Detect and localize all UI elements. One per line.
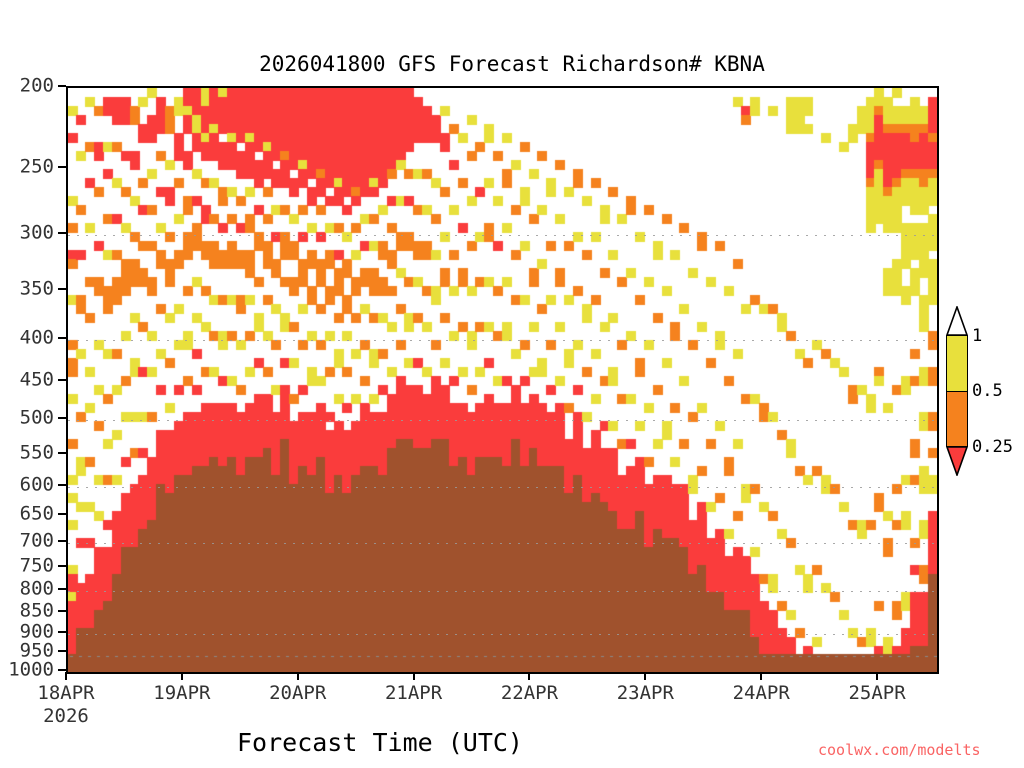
page-title: 2026041800 GFS Forecast Richardson# KBNA <box>0 52 1024 76</box>
y-tick-label-400: 400 <box>20 328 54 347</box>
colorbar-label-1: 1 <box>972 326 982 346</box>
y-tick-mark-300 <box>58 232 66 234</box>
y-tick-mark-450 <box>58 379 66 381</box>
x-tick-mark-23APR <box>644 672 646 680</box>
plot-area <box>66 86 939 674</box>
colorbar-label-0.5: 0.5 <box>972 381 1003 401</box>
watermark: coolwx.com/modelts <box>818 741 981 759</box>
y-tick-mark-200 <box>58 85 66 87</box>
y-tick-mark-500 <box>58 417 66 419</box>
y-tick-label-450: 450 <box>20 371 54 390</box>
y-tick-mark-400 <box>58 337 66 339</box>
y-tick-mark-950 <box>58 650 66 652</box>
x-tick-label-18APR: 18APR <box>37 682 94 704</box>
y-tick-label-900: 900 <box>20 622 54 641</box>
y-tick-mark-900 <box>58 631 66 633</box>
x-tick-label-22APR: 22APR <box>501 682 558 704</box>
y-tick-label-1000: 1000 <box>8 661 54 680</box>
y-tick-mark-800 <box>58 588 66 590</box>
y-tick-label-350: 350 <box>20 280 54 299</box>
y-tick-label-550: 550 <box>20 444 54 463</box>
y-tick-label-200: 200 <box>20 77 54 96</box>
y-tick-mark-600 <box>58 484 66 486</box>
y-tick-mark-750 <box>58 565 66 567</box>
y-tick-mark-550 <box>58 452 66 454</box>
x-axis-title: Forecast Time (UTC) <box>0 728 760 757</box>
colorbar-bottom-cap-icon <box>946 446 968 476</box>
colorbar-legend: 1 0.5 0.25 <box>946 306 1024 476</box>
x-tick-mark-25APR <box>876 672 878 680</box>
y-tick-mark-850 <box>58 610 66 612</box>
y-tick-mark-650 <box>58 513 66 515</box>
plot-inner <box>68 88 937 672</box>
x-tick-label-20APR: 20APR <box>269 682 326 704</box>
x-tick-label-19APR: 19APR <box>153 682 210 704</box>
y-tick-label-500: 500 <box>20 409 54 428</box>
colorbar-segment-yellow <box>947 336 967 391</box>
x-tick-mark-20APR <box>297 672 299 680</box>
x-tick-mark-21APR <box>413 672 415 680</box>
x-tick-label-23APR: 23APR <box>617 682 674 704</box>
y-tick-mark-1000 <box>58 669 66 671</box>
y-axis: 2002503003504004505005506006507007508008… <box>0 86 66 670</box>
y-tick-label-300: 300 <box>20 224 54 243</box>
x-axis-year-label: 2026 <box>43 705 89 727</box>
y-tick-mark-350 <box>58 288 66 290</box>
x-tick-label-21APR: 21APR <box>385 682 442 704</box>
colorbar-top-cap-icon <box>946 306 968 336</box>
y-tick-label-800: 800 <box>20 580 54 599</box>
colorbar-label-0.25: 0.25 <box>972 437 1013 457</box>
y-tick-mark-700 <box>58 540 66 542</box>
x-tick-mark-22APR <box>528 672 530 680</box>
x-axis: 18APR19APR20APR21APR22APR23APR24APR25APR… <box>66 672 935 732</box>
y-tick-mark-250 <box>58 166 66 168</box>
colorbar-body <box>946 335 968 447</box>
x-tick-mark-24APR <box>760 672 762 680</box>
y-tick-label-250: 250 <box>20 157 54 176</box>
heatmap-canvas <box>68 88 937 672</box>
colorbar-segment-orange <box>947 391 967 446</box>
chart-page: 2026041800 GFS Forecast Richardson# KBNA… <box>0 0 1024 768</box>
x-tick-mark-19APR <box>181 672 183 680</box>
y-tick-label-600: 600 <box>20 475 54 494</box>
x-tick-label-24APR: 24APR <box>733 682 790 704</box>
y-tick-label-700: 700 <box>20 531 54 550</box>
y-tick-label-850: 850 <box>20 602 54 621</box>
x-tick-mark-18APR <box>65 672 67 680</box>
y-tick-label-750: 750 <box>20 556 54 575</box>
y-tick-label-650: 650 <box>20 504 54 523</box>
x-tick-label-25APR: 25APR <box>848 682 905 704</box>
